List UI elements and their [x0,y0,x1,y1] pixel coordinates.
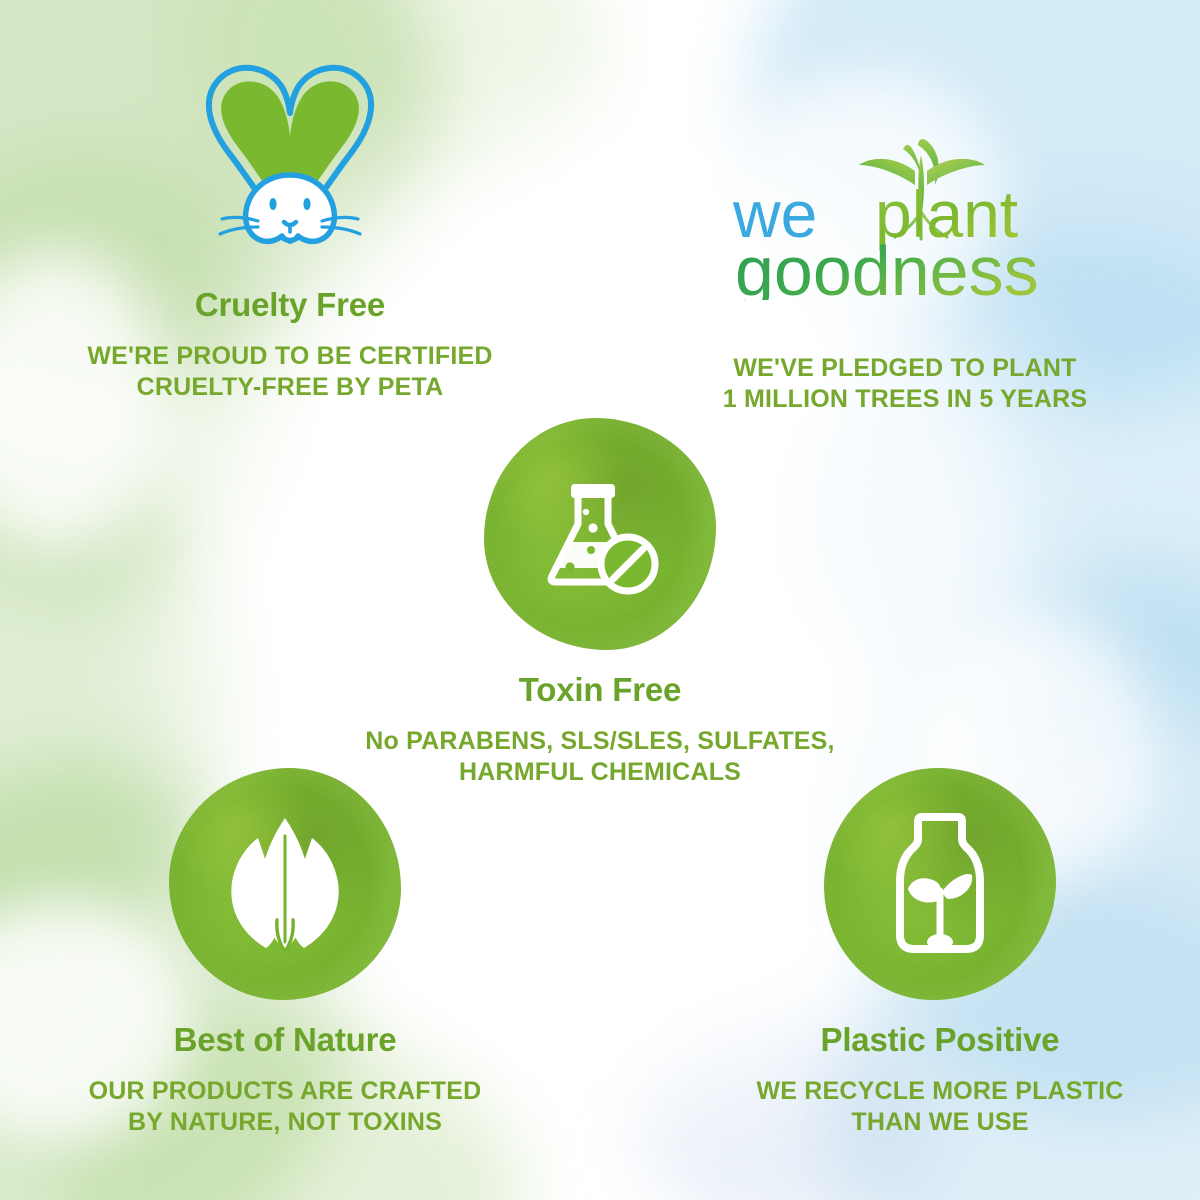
sprout-leaf-left [908,878,941,902]
feature-heading-plastic-positive: Plastic Positive [690,1022,1190,1058]
feature-line-best-of-nature-2: BY NATURE, NOT TOXINS [35,1107,535,1138]
feature-line-we-plant-goodness-1: WE'VE PLEDGED TO PLANT [655,353,1155,384]
sprout-leaf-right [943,874,972,899]
feature-line-toxin-free-1: No PARABENS, SLS/SLES, SULFATES, [350,726,850,757]
flask-bubble [587,546,595,554]
logo-word-goodness: goodness [735,232,1039,300]
bunny-eye-left [269,198,276,210]
feature-best-of-nature: Best of Nature OUR PRODUCTS ARE CRAFTED … [35,768,535,1137]
feature-toxin-free: Toxin Free No PARABENS, SLS/SLES, SULFAT… [350,418,850,787]
feature-heading-cruelty-free: Cruelty Free [40,287,540,323]
feature-heading-best-of-nature: Best of Nature [35,1022,535,1058]
flask-no-toxins-icon [484,418,716,650]
flask-bubble [583,509,589,515]
feature-line-cruelty-free-1: WE'RE PROUD TO BE CERTIFIED [40,341,540,372]
feature-line-we-plant-goodness-2: 1 MILLION TREES IN 5 YEARS [655,384,1155,415]
feature-heading-toxin-free: Toxin Free [350,672,850,708]
feature-line-cruelty-free-2: CRUELTY-FREE BY PETA [40,372,540,403]
sprout-seed [927,934,953,950]
feature-plastic-positive: Plastic Positive WE RECYCLE MORE PLASTIC… [690,768,1190,1137]
bunny-whisker [322,217,358,221]
bottle-sprout-icon [824,768,1056,1000]
infographic-canvas: Cruelty Free WE'RE PROUD TO BE CERTIFIED… [0,0,1200,1200]
bunny-whisker [222,217,258,221]
feature-line-plastic-positive-1: WE RECYCLE MORE PLASTIC [690,1076,1190,1107]
feature-we-plant-goodness: we plant goodness WE'VE PLEDGED TO PLANT… [655,125,1155,414]
flask-bubble [565,562,574,571]
three-leaves-icon [169,768,401,1000]
we-plant-goodness-logo: we plant goodness [725,125,1085,305]
feature-cruelty-free: Cruelty Free WE'RE PROUD TO BE CERTIFIED… [40,45,540,402]
bunny-eye-right [303,198,310,210]
peta-bunny-heart-icon [140,45,440,265]
flask-bubble [588,523,597,532]
flask-neck-cap [571,484,615,498]
prohibition-icon [601,537,655,591]
feature-line-plastic-positive-2: THAN WE USE [690,1107,1190,1138]
feature-line-best-of-nature-1: OUR PRODUCTS ARE CRAFTED [35,1076,535,1107]
